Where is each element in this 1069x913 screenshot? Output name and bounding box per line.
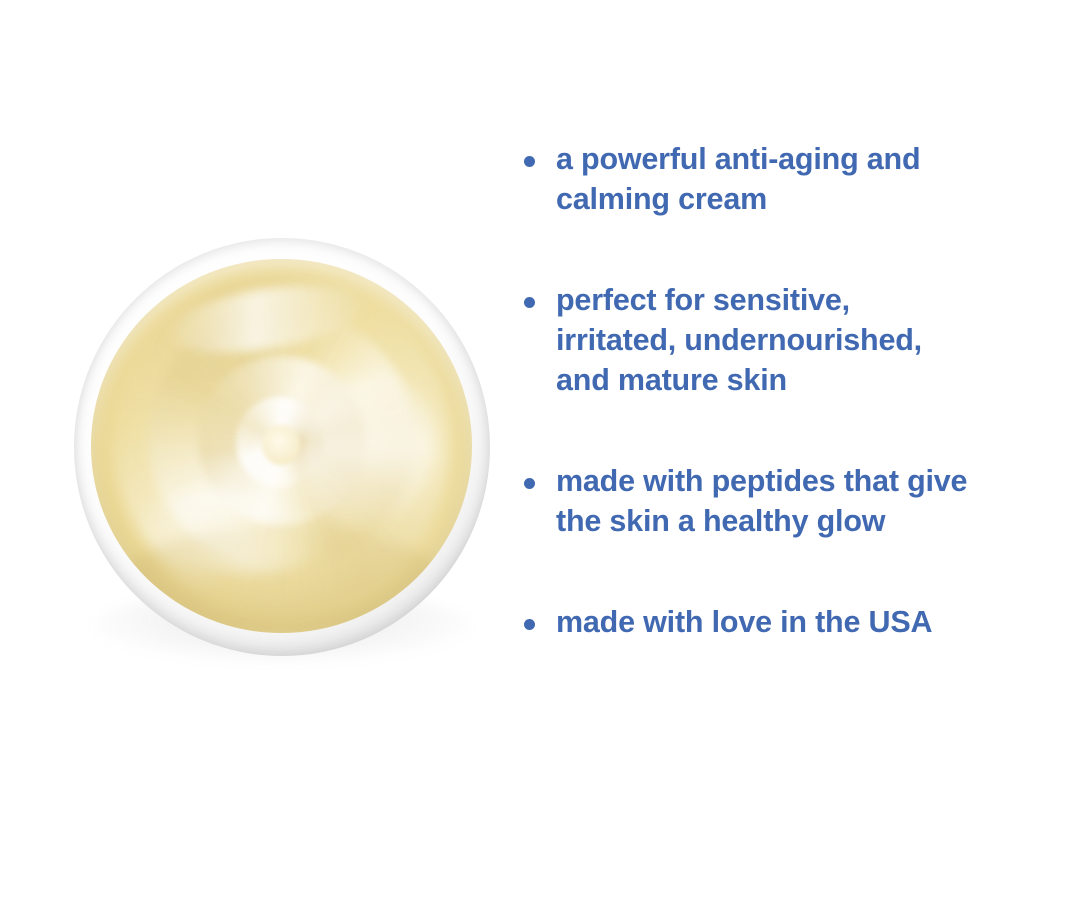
benefits-list: a powerful anti-aging and calming cream … [524,140,1069,643]
product-image [74,238,490,656]
list-item: a powerful anti-aging and calming cream [524,140,1069,219]
list-item: made with love in the USA [524,603,1069,643]
swirl-core [262,425,300,464]
list-item: perfect for sensitive, irritated, undern… [524,281,1069,400]
cream-swirl [91,259,472,633]
cream-shadow-bottom [121,528,441,633]
cream-jar [74,238,490,656]
cream-highlight-right [287,358,451,542]
cream-highlight-top [164,274,369,364]
list-item: made with peptides that give the skin a … [524,462,1069,541]
benefit-text: perfect for sensitive, irritated, undern… [556,281,922,400]
benefit-text: made with peptides that give the skin a … [556,462,967,541]
product-benefits-canvas: a powerful anti-aging and calming cream … [0,0,1069,913]
benefit-text: a powerful anti-aging and calming cream [556,140,920,219]
bullet-dot-icon [524,297,535,308]
bullet-dot-icon [524,478,535,489]
bullet-dot-icon [524,619,535,630]
bullet-dot-icon [524,156,535,167]
benefit-text: made with love in the USA [556,603,932,643]
